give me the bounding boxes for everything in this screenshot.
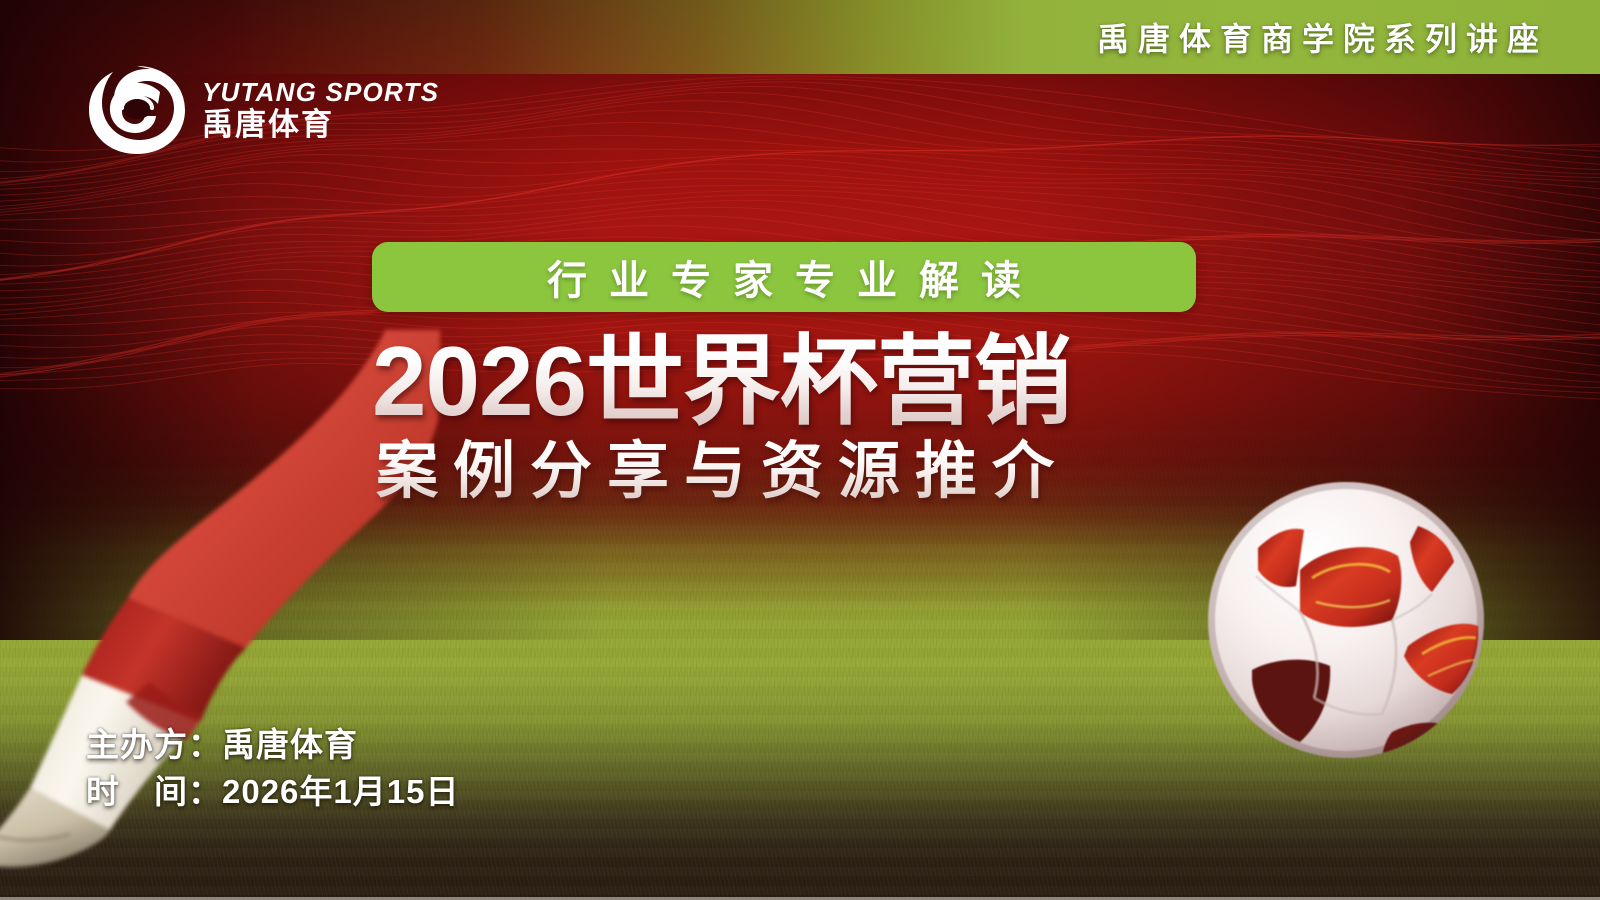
series-title: 禹唐体育商学院系列讲座 [1097, 14, 1600, 60]
headline-block: 2026世界杯营销 案例分享与资源推介 [372, 330, 1232, 506]
green-ribbon-banner: 行业专家专业解读 [372, 242, 1196, 312]
logo-english-name: YUTANG SPORTS [202, 78, 439, 106]
brand-logo: YUTANG SPORTS 禹唐体育 [86, 62, 439, 158]
info-row-organizer: 主办方：禹唐体育 [86, 722, 459, 769]
logo-wordmark: YUTANG SPORTS 禹唐体育 [202, 78, 439, 143]
headline-main-title: 2026世界杯营销 [372, 330, 1232, 434]
headline-subtitle: 案例分享与资源推介 [372, 438, 1232, 506]
logo-chinese-name: 禹唐体育 [202, 108, 439, 143]
yutang-swirl-logo-icon [86, 62, 188, 158]
ribbon-label: 行业专家专业解读 [525, 248, 1043, 306]
event-info-block: 主办方：禹唐体育 时 间：2026年1月15日 [86, 722, 459, 816]
event-poster: 禹唐体育商学院系列讲座 YUTANG SPORTS 禹唐体育 行业专家专业解读 … [0, 0, 1600, 900]
info-row-date: 时 间：2026年1月15日 [86, 769, 459, 816]
soccer-ball-image [1196, 470, 1496, 770]
